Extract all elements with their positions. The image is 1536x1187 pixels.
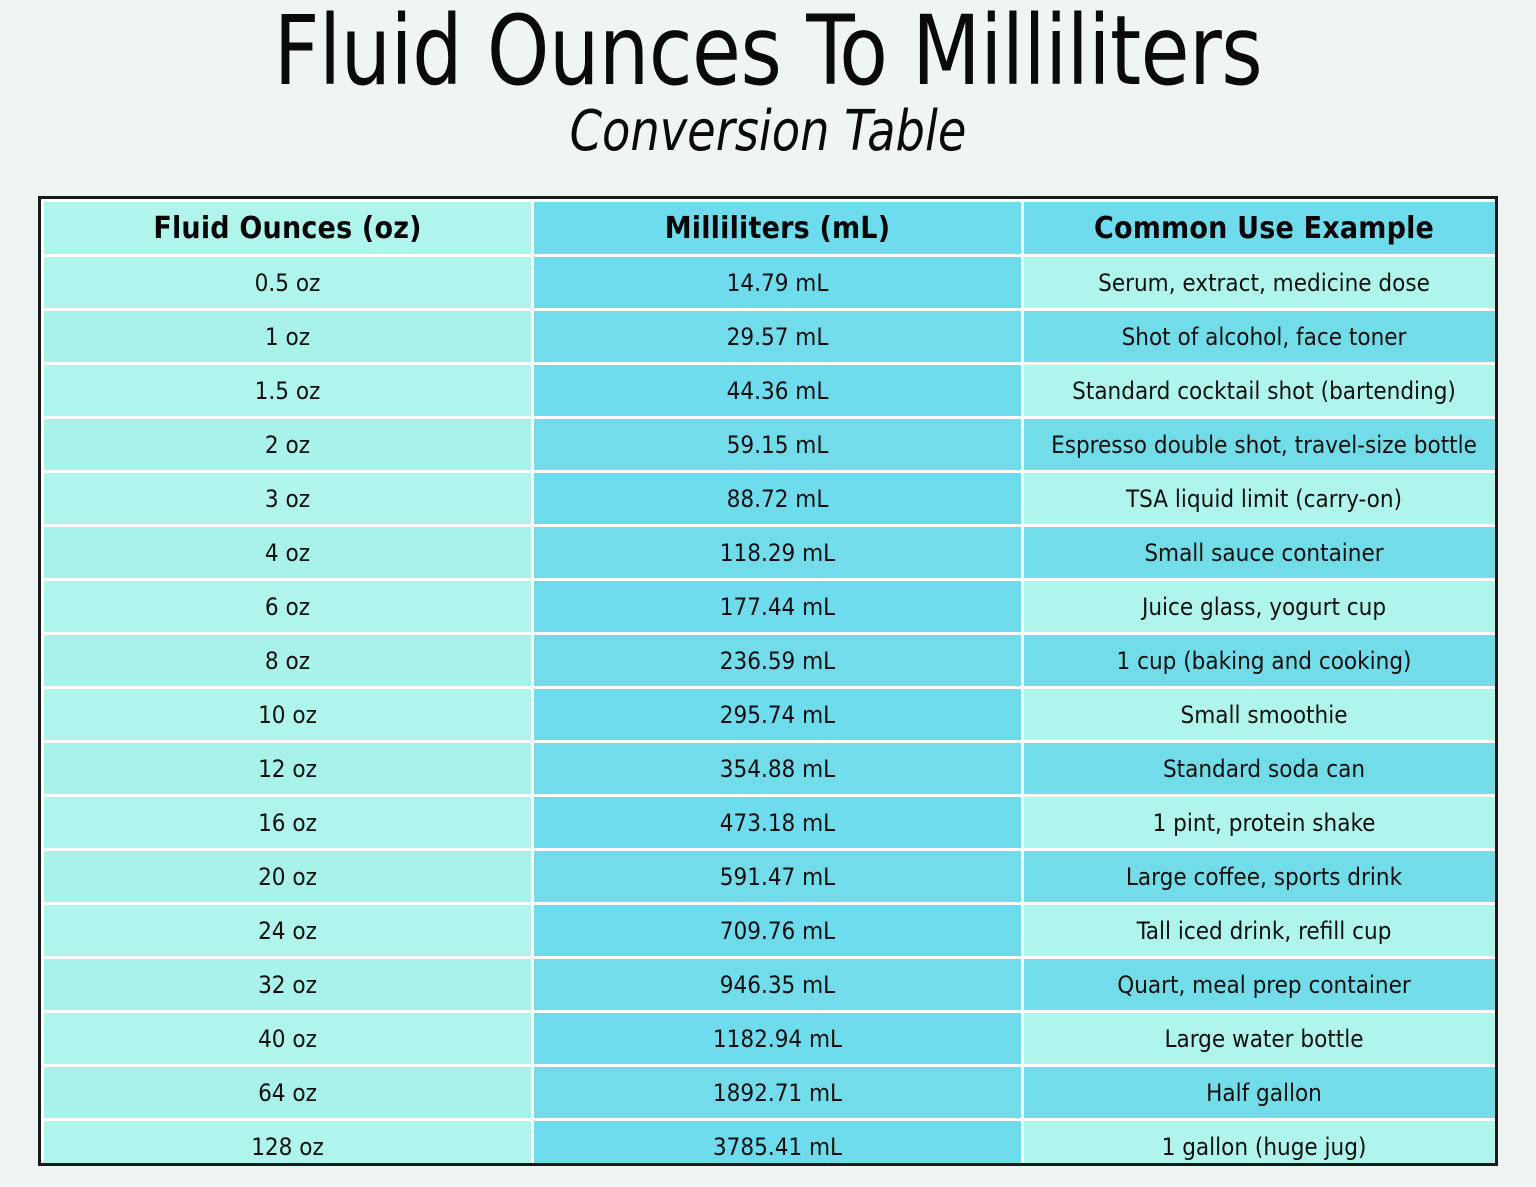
cell-common-use: Serum, extract, medicine dose: [1024, 257, 1498, 308]
cell-fluid-ounces: 0.5 oz: [44, 257, 531, 308]
table-body: 0.5 oz14.79 mLSerum, extract, medicine d…: [44, 257, 1498, 1166]
cell-common-use: Half gallon: [1024, 1067, 1498, 1118]
table-row: 1.5 oz44.36 mLStandard cocktail shot (ba…: [44, 365, 1498, 416]
table-header-row: Fluid Ounces (oz) Milliliters (mL) Commo…: [44, 202, 1498, 254]
cell-common-use: 1 gallon (huge jug): [1024, 1121, 1498, 1166]
page-root: Fluid Ounces To Milliliters Conversion T…: [0, 0, 1536, 1187]
cell-fluid-ounces: 24 oz: [44, 905, 531, 956]
cell-milliliters: 118.29 mL: [534, 527, 1021, 578]
table-row: 128 oz3785.41 mL1 gallon (huge jug): [44, 1121, 1498, 1166]
cell-milliliters: 14.79 mL: [534, 257, 1021, 308]
cell-milliliters: 59.15 mL: [534, 419, 1021, 470]
page-title: Fluid Ounces To Milliliters: [61, 2, 1474, 101]
page-subtitle: Conversion Table: [61, 103, 1474, 162]
table-row: 10 oz295.74 mLSmall smoothie: [44, 689, 1498, 740]
cell-fluid-ounces: 6 oz: [44, 581, 531, 632]
cell-common-use: Juice glass, yogurt cup: [1024, 581, 1498, 632]
cell-fluid-ounces: 128 oz: [44, 1121, 531, 1166]
cell-fluid-ounces: 10 oz: [44, 689, 531, 740]
cell-common-use: Espresso double shot, travel-size bottle: [1024, 419, 1498, 470]
table-row: 32 oz946.35 mLQuart, meal prep container: [44, 959, 1498, 1010]
cell-common-use: Standard cocktail shot (bartending): [1024, 365, 1498, 416]
title-block: Fluid Ounces To Milliliters Conversion T…: [0, 0, 1536, 162]
table-row: 0.5 oz14.79 mLSerum, extract, medicine d…: [44, 257, 1498, 308]
table-row: 4 oz118.29 mLSmall sauce container: [44, 527, 1498, 578]
cell-milliliters: 709.76 mL: [534, 905, 1021, 956]
cell-common-use: Large water bottle: [1024, 1013, 1498, 1064]
cell-fluid-ounces: 3 oz: [44, 473, 531, 524]
cell-fluid-ounces: 1.5 oz: [44, 365, 531, 416]
cell-fluid-ounces: 12 oz: [44, 743, 531, 794]
cell-fluid-ounces: 32 oz: [44, 959, 531, 1010]
table-row: 20 oz591.47 mLLarge coffee, sports drink: [44, 851, 1498, 902]
cell-fluid-ounces: 16 oz: [44, 797, 531, 848]
column-header-milliliters: Milliliters (mL): [534, 202, 1021, 254]
cell-milliliters: 177.44 mL: [534, 581, 1021, 632]
column-header-fluid-ounces: Fluid Ounces (oz): [44, 202, 531, 254]
cell-milliliters: 3785.41 mL: [534, 1121, 1021, 1166]
table-row: 1 oz29.57 mLShot of alcohol, face toner: [44, 311, 1498, 362]
cell-fluid-ounces: 20 oz: [44, 851, 531, 902]
table-row: 40 oz1182.94 mLLarge water bottle: [44, 1013, 1498, 1064]
cell-milliliters: 29.57 mL: [534, 311, 1021, 362]
column-header-common-use: Common Use Example: [1024, 202, 1498, 254]
table-row: 12 oz354.88 mLStandard soda can: [44, 743, 1498, 794]
cell-common-use: Standard soda can: [1024, 743, 1498, 794]
cell-common-use: Shot of alcohol, face toner: [1024, 311, 1498, 362]
table-row: 16 oz473.18 mL1 pint, protein shake: [44, 797, 1498, 848]
cell-milliliters: 591.47 mL: [534, 851, 1021, 902]
cell-fluid-ounces: 4 oz: [44, 527, 531, 578]
cell-fluid-ounces: 8 oz: [44, 635, 531, 686]
cell-fluid-ounces: 40 oz: [44, 1013, 531, 1064]
cell-milliliters: 88.72 mL: [534, 473, 1021, 524]
cell-common-use: 1 cup (baking and cooking): [1024, 635, 1498, 686]
conversion-table-container: Fluid Ounces (oz) Milliliters (mL) Commo…: [38, 196, 1498, 1166]
table-row: 24 oz709.76 mLTall iced drink, refill cu…: [44, 905, 1498, 956]
cell-milliliters: 354.88 mL: [534, 743, 1021, 794]
cell-milliliters: 1892.71 mL: [534, 1067, 1021, 1118]
cell-common-use: TSA liquid limit (carry-on): [1024, 473, 1498, 524]
cell-milliliters: 473.18 mL: [534, 797, 1021, 848]
table-row: 8 oz236.59 mL1 cup (baking and cooking): [44, 635, 1498, 686]
cell-common-use: Quart, meal prep container: [1024, 959, 1498, 1010]
table-row: 6 oz177.44 mLJuice glass, yogurt cup: [44, 581, 1498, 632]
cell-common-use: Small sauce container: [1024, 527, 1498, 578]
cell-milliliters: 295.74 mL: [534, 689, 1021, 740]
table-row: 3 oz88.72 mLTSA liquid limit (carry-on): [44, 473, 1498, 524]
table-row: 64 oz1892.71 mLHalf gallon: [44, 1067, 1498, 1118]
cell-common-use: Small smoothie: [1024, 689, 1498, 740]
cell-common-use: Large coffee, sports drink: [1024, 851, 1498, 902]
conversion-table: Fluid Ounces (oz) Milliliters (mL) Commo…: [41, 199, 1498, 1166]
cell-fluid-ounces: 2 oz: [44, 419, 531, 470]
cell-fluid-ounces: 64 oz: [44, 1067, 531, 1118]
cell-milliliters: 946.35 mL: [534, 959, 1021, 1010]
cell-milliliters: 44.36 mL: [534, 365, 1021, 416]
table-header: Fluid Ounces (oz) Milliliters (mL) Commo…: [44, 202, 1498, 254]
cell-fluid-ounces: 1 oz: [44, 311, 531, 362]
cell-common-use: Tall iced drink, refill cup: [1024, 905, 1498, 956]
cell-milliliters: 236.59 mL: [534, 635, 1021, 686]
cell-common-use: 1 pint, protein shake: [1024, 797, 1498, 848]
table-row: 2 oz59.15 mLEspresso double shot, travel…: [44, 419, 1498, 470]
cell-milliliters: 1182.94 mL: [534, 1013, 1021, 1064]
